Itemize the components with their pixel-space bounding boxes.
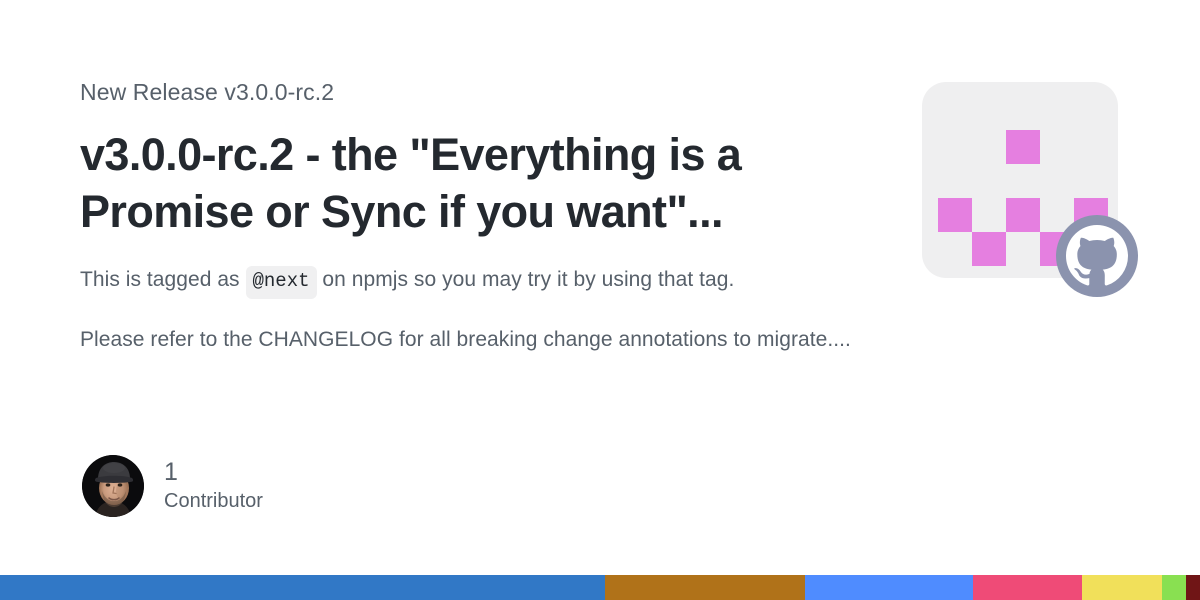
github-octocat-badge	[1056, 215, 1138, 297]
release-eyebrow-label: New Release v3.0.0-rc.2	[80, 78, 870, 108]
contributors-section: 1 Contributor	[82, 455, 263, 517]
language-segment-pink	[973, 575, 1082, 600]
release-description-paragraph-2: Please refer to the CHANGELOG for all br…	[80, 325, 870, 355]
github-octocat-icon	[1066, 225, 1128, 287]
language-color-bar	[0, 575, 1200, 600]
identicon-cell-2	[1006, 198, 1040, 232]
npm-tag-code-chip: @next	[246, 266, 317, 299]
language-segment-yellow	[1082, 575, 1162, 600]
release-content: New Release v3.0.0-rc.2 v3.0.0-rc.2 - th…	[80, 78, 870, 355]
identicon-cell-4	[972, 232, 1006, 266]
contributor-text-group: 1 Contributor	[164, 459, 263, 513]
language-segment-dark-red	[1186, 575, 1200, 600]
release-description-paragraph-1: This is tagged as @next on npmjs so you …	[80, 265, 870, 299]
language-segment-gold	[605, 575, 805, 600]
repository-avatar	[922, 82, 1118, 278]
contributor-avatar	[82, 455, 144, 517]
language-segment-light-blue	[805, 575, 973, 600]
user-photo-avatar-icon	[82, 455, 144, 517]
language-segment-blue	[0, 575, 605, 600]
language-segment-green	[1162, 575, 1186, 600]
release-title: v3.0.0-rc.2 - the "Everything is a Promi…	[80, 126, 840, 241]
contributor-label: Contributor	[164, 489, 263, 513]
identicon-cell-0	[1006, 130, 1040, 164]
github-release-social-card: New Release v3.0.0-rc.2 v3.0.0-rc.2 - th…	[0, 0, 1200, 600]
identicon-cell-1	[938, 198, 972, 232]
contributor-count: 1	[164, 459, 263, 485]
paragraph-1-text-after: on npmjs so you may try it by using that…	[322, 268, 734, 291]
paragraph-1-text-before: This is tagged as	[80, 268, 240, 291]
